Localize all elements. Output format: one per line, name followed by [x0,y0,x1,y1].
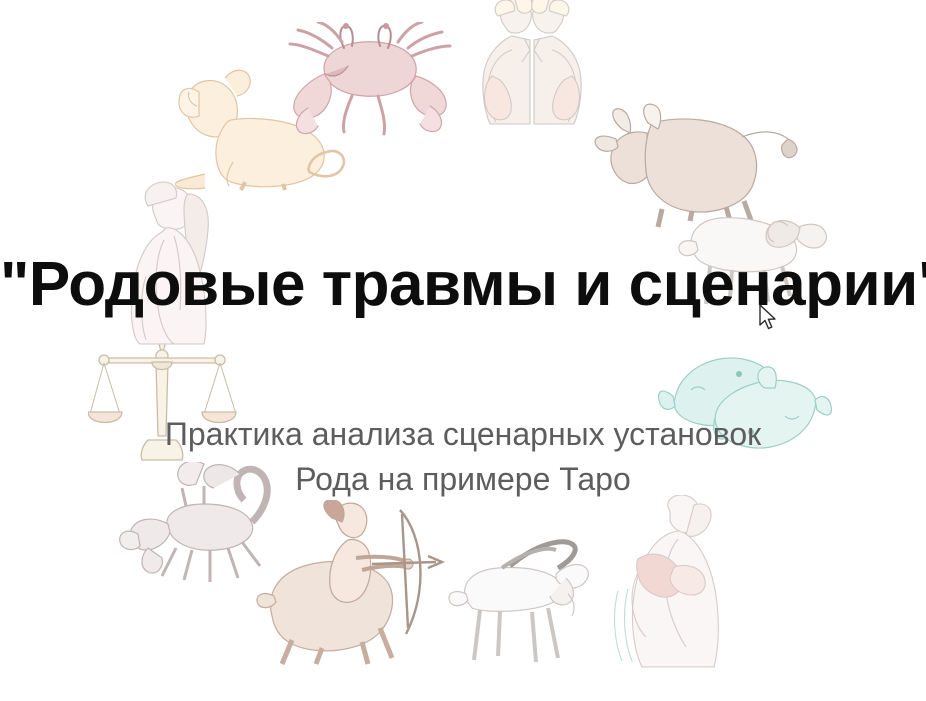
cancer-crab-icon [272,22,457,147]
slide-subtitle: Практика анализа сценарных установок Род… [158,412,768,503]
gemini-twins-icon [462,0,602,127]
subtitle-block: Практика анализа сценарных установок Род… [0,412,926,503]
presentation-slide: "Родовые травмы и сценарии" Практика ана… [0,0,926,701]
leo-lion-icon [175,62,350,192]
zodiac-wheel-background [0,0,926,701]
aquarius-bearer-icon [608,495,753,670]
title-block: "Родовые травмы и сценарии" [0,252,926,317]
capricorn-goat-icon [440,538,600,678]
sagittarius-archer-icon [252,500,452,665]
slide-title: "Родовые травмы и сценарии" [0,252,926,317]
taurus-bull-icon [592,95,807,230]
